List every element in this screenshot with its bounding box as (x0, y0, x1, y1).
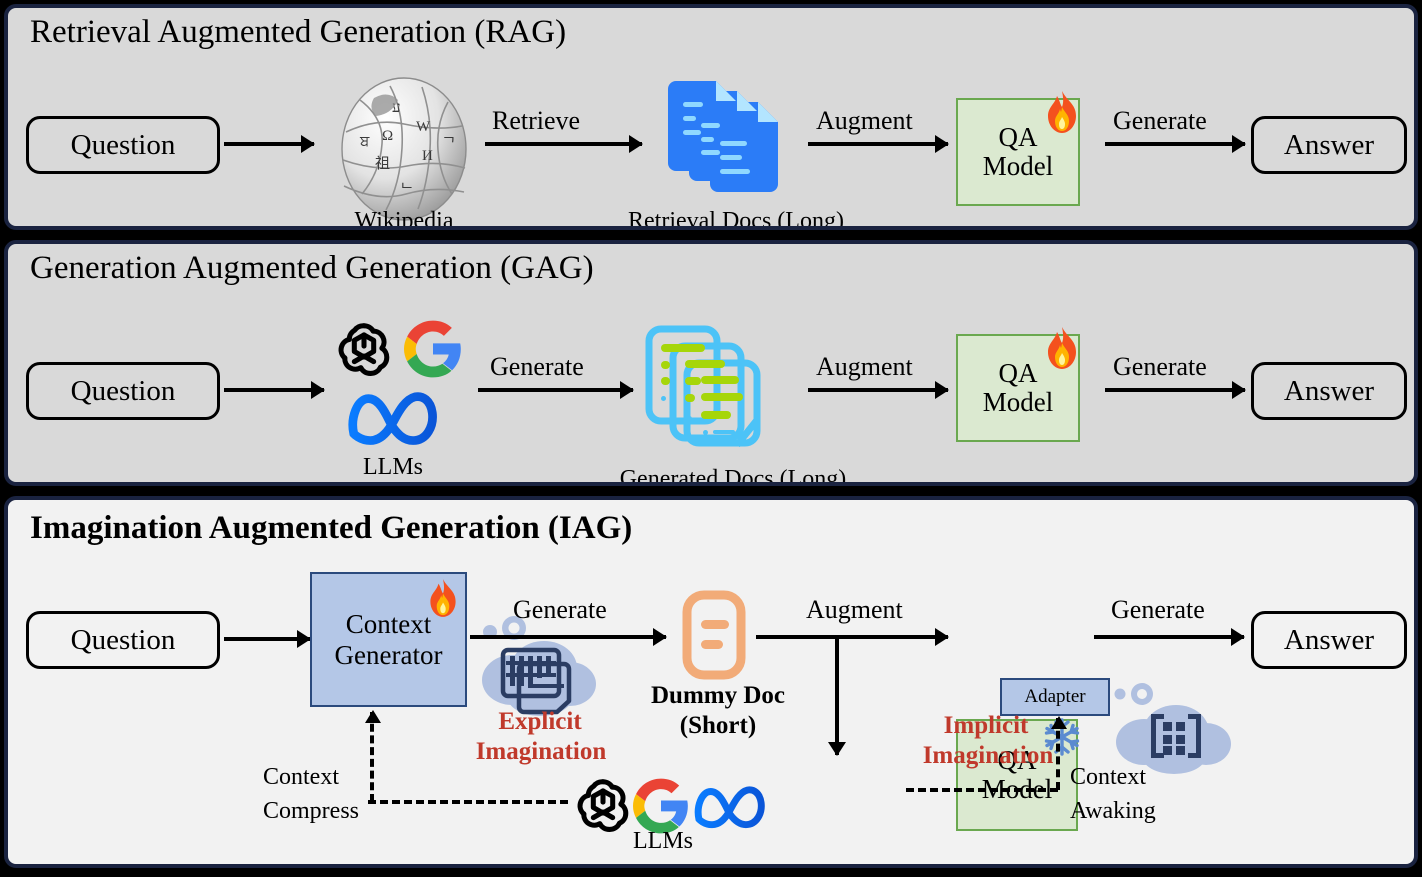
rag-arrow-model-to-answer (1105, 142, 1245, 146)
rag-qa-model-box[interactable]: QA Model (956, 98, 1080, 206)
rag-question-box[interactable]: Question (26, 116, 220, 174)
iag-arrow-question-to-ctxgen (224, 637, 310, 641)
panel-gag-title: Generation Augmented Generation (GAG) (30, 250, 594, 287)
context-compress-label-line1: Context (263, 764, 393, 791)
iag-llms-caption: LLMs (608, 828, 718, 855)
wikipedia-globe-icon: Ω W И 祖 ਬ ᄀ ᄂ ע (330, 76, 478, 222)
iag-arrow-ctxgen-to-doc (470, 635, 666, 639)
rag-arrow-docs-to-model (808, 142, 948, 146)
fire-icon (1042, 326, 1082, 370)
gag-docs-caption: Generated Docs (Long) (618, 466, 848, 486)
gag-qa-model-line2: Model (983, 388, 1054, 417)
google-g-logo-icon (633, 778, 689, 834)
rag-answer-box[interactable]: Answer (1251, 116, 1407, 174)
dashed-hypernet-to-adapter-horizontal (906, 788, 1058, 792)
iag-arrow-model-to-answer (1094, 635, 1244, 639)
gag-question-box[interactable]: Question (26, 362, 220, 420)
figure-root: Retrieval Augmented Generation (RAG) Que… (0, 0, 1422, 877)
svg-text:И: И (422, 148, 433, 164)
svg-text:ᄀ: ᄀ (442, 136, 456, 152)
rag-edge-label-augment: Augment (816, 106, 913, 136)
cyan-documents-icon (643, 324, 789, 464)
fire-icon (1042, 90, 1082, 134)
context-generator-box[interactable]: Context Generator (310, 572, 467, 707)
rag-qa-model-line1: QA (999, 123, 1038, 152)
context-awaking-label-line2: Awaking (1070, 798, 1210, 825)
rag-arrow-source-to-docs (485, 142, 642, 146)
gag-answer-box[interactable]: Answer (1251, 362, 1407, 420)
rag-docs-caption: Retrieval Docs (Long) (628, 208, 838, 230)
rag-edge-label-retrieve: Retrieve (492, 106, 580, 136)
openai-logo-icon (333, 319, 395, 381)
gag-edge-label-generate: Generate (490, 352, 584, 382)
gag-arrow-model-to-answer (1105, 388, 1245, 392)
rag-arrow-question-to-source (224, 142, 314, 146)
svg-text:祖: 祖 (375, 155, 390, 172)
fire-icon (425, 578, 461, 618)
svg-text:ਬ: ਬ (359, 134, 370, 150)
iag-answer-box[interactable]: Answer (1251, 611, 1407, 669)
blue-documents-icon (663, 80, 797, 206)
meta-infinity-logo-icon (692, 780, 768, 832)
context-awaking-label-line1: Context (1070, 764, 1200, 791)
gag-source-caption: LLMs (338, 454, 448, 481)
context-generator-line2: Generator (335, 640, 443, 670)
meta-infinity-logo-icon (345, 386, 441, 448)
implicit-imagination-label-line1: Implicit (926, 712, 1046, 739)
gag-qa-model-line1: QA (999, 359, 1038, 388)
gag-qa-model-box[interactable]: QA Model (956, 334, 1080, 442)
explicit-imagination-label-line1: Explicit (470, 708, 610, 735)
dummy-doc-caption-line1: Dummy Doc (648, 682, 788, 710)
gag-arrow-docs-to-model (808, 388, 948, 392)
iag-edge-label-augment: Augment (806, 595, 903, 625)
adapter-box[interactable]: Adapter (1000, 678, 1110, 716)
context-compress-label-line2: Compress (263, 798, 413, 825)
rag-qa-model-line2: Model (983, 152, 1054, 181)
panel-iag: Imagination Augmented Generation (IAG) Q… (4, 496, 1418, 868)
google-g-logo-icon (404, 320, 462, 378)
gag-arrow-question-to-llms (224, 388, 324, 392)
panel-rag-title: Retrieval Augmented Generation (RAG) (30, 14, 566, 51)
iag-edge-label-generate-2: Generate (1111, 595, 1205, 625)
iag-question-box[interactable]: Question (26, 611, 220, 669)
svg-text:Ω: Ω (382, 128, 393, 144)
svg-text:ᄂ: ᄂ (400, 182, 414, 198)
iag-edge-label-generate: Generate (513, 595, 607, 625)
iag-arrow-augment-to-hypernet (835, 637, 839, 755)
implicit-imagination-label-line2: Imagination (904, 742, 1072, 769)
panel-iag-title: Imagination Augmented Generation (IAG) (30, 510, 632, 547)
explicit-imagination-label-line2: Imagination (456, 738, 626, 765)
gag-edge-label-generate-2: Generate (1113, 352, 1207, 382)
dashed-adapter-vertical-arrow (1056, 718, 1060, 790)
context-generator-line1: Context (346, 609, 432, 639)
svg-text:W: W (416, 119, 431, 135)
rag-edge-label-generate: Generate (1113, 106, 1207, 136)
orange-document-icon (680, 590, 748, 680)
gag-arrow-llms-to-docs (478, 388, 633, 392)
gag-edge-label-augment: Augment (816, 352, 913, 382)
panel-gag: Generation Augmented Generation (GAG) Qu… (4, 240, 1418, 486)
rag-source-caption: Wikipedia (330, 208, 478, 230)
iag-arrow-doc-to-model (756, 635, 948, 639)
dummy-doc-caption-line2: (Short) (648, 712, 788, 740)
panel-rag: Retrieval Augmented Generation (RAG) Que… (4, 4, 1418, 230)
